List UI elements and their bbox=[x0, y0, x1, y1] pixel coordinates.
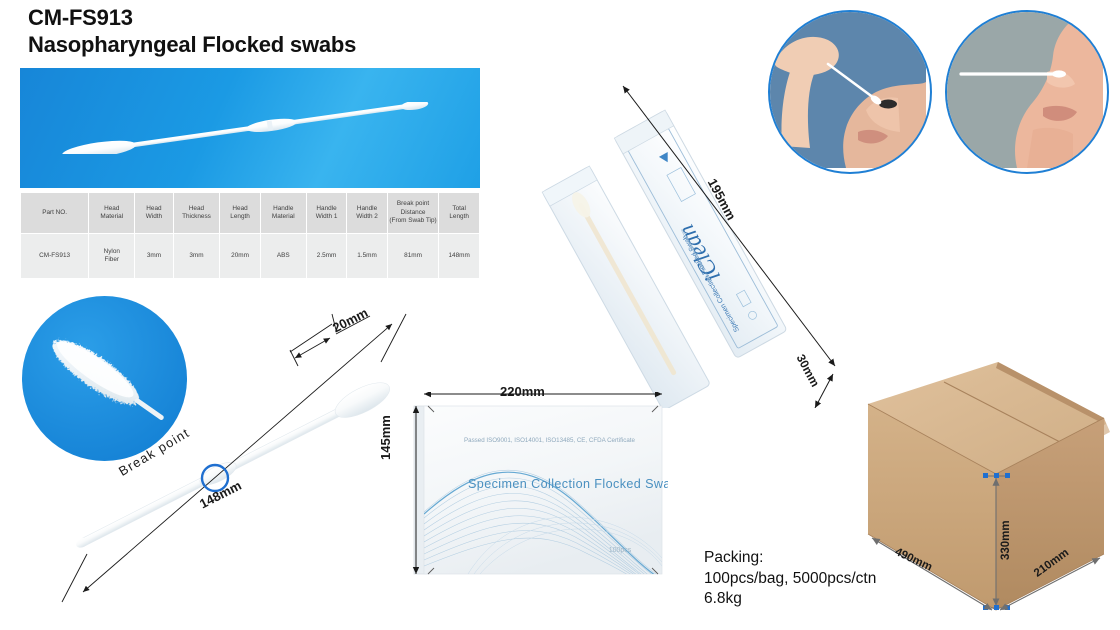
shipping-carton-photo bbox=[848, 358, 1120, 630]
box-product-text: Specimen Collection Flocked Swab bbox=[468, 477, 668, 491]
usage-photo-nasal-swab-by-hand bbox=[768, 10, 932, 174]
dimension-label-box-width: 220mm bbox=[500, 384, 545, 399]
th-handle-material: HandleMaterial bbox=[260, 193, 306, 234]
table-row: CM-FS913 NylonFiber 3mm 3mm 20mm ABS 2.5… bbox=[21, 234, 480, 279]
retail-box-photo: Passed ISO9001, ISO14001, ISO13485, CE, … bbox=[398, 392, 668, 587]
td-head-length: 20mm bbox=[220, 234, 260, 279]
th-head-thickness: HeadThickness bbox=[173, 193, 220, 234]
nasal-swab-hand-illustration bbox=[770, 12, 926, 168]
nasal-swab-profile-illustration bbox=[947, 12, 1103, 168]
box-quantity-text: 100pcs bbox=[609, 547, 632, 554]
td-handle-width-2: 1.5mm bbox=[347, 234, 387, 279]
td-part-no: CM-FS913 bbox=[21, 234, 89, 279]
th-part-no: Part NO. bbox=[21, 193, 89, 234]
swab-dimension-diagram bbox=[40, 300, 430, 630]
dimension-label-box-height: 145mm bbox=[378, 415, 393, 460]
th-head-material: HeadMaterial bbox=[89, 193, 135, 234]
page-title: CM-FS913 Nasopharyngeal Flocked swabs bbox=[28, 4, 588, 58]
td-handle-material: ABS bbox=[260, 234, 306, 279]
product-part-code: CM-FS913 bbox=[28, 4, 588, 31]
th-break-point-distance: Break point Distance(From Swab Tip) bbox=[387, 193, 439, 234]
td-head-material: NylonFiber bbox=[89, 234, 135, 279]
th-handle-width-1: HandleWidth 1 bbox=[306, 193, 346, 234]
hero-product-banner bbox=[20, 68, 480, 188]
table-header-row: Part NO. HeadMaterial HeadWidth HeadThic… bbox=[21, 193, 480, 234]
th-head-length: HeadLength bbox=[220, 193, 260, 234]
specification-table: Part NO. HeadMaterial HeadWidth HeadThic… bbox=[20, 192, 480, 279]
product-name: Nasopharyngeal Flocked swabs bbox=[28, 31, 588, 58]
th-head-width: HeadWidth bbox=[135, 193, 173, 234]
box-certificate-text: Passed ISO9001, ISO14001, ISO13485, CE, … bbox=[464, 437, 635, 444]
td-handle-width-1: 2.5mm bbox=[306, 234, 346, 279]
td-total-length: 148mm bbox=[439, 234, 480, 279]
td-head-thickness: 3mm bbox=[173, 234, 220, 279]
swab-product-photo bbox=[43, 102, 457, 155]
usage-photo-nasal-swab-profile bbox=[945, 10, 1109, 174]
dimension-label-carton-height: 330mm bbox=[1000, 520, 1012, 560]
th-handle-width-2: HandleWidth 2 bbox=[347, 193, 387, 234]
th-total-length: TotalLength bbox=[439, 193, 480, 234]
td-break-point-distance: 81mm bbox=[387, 234, 439, 279]
td-head-width: 3mm bbox=[135, 234, 173, 279]
